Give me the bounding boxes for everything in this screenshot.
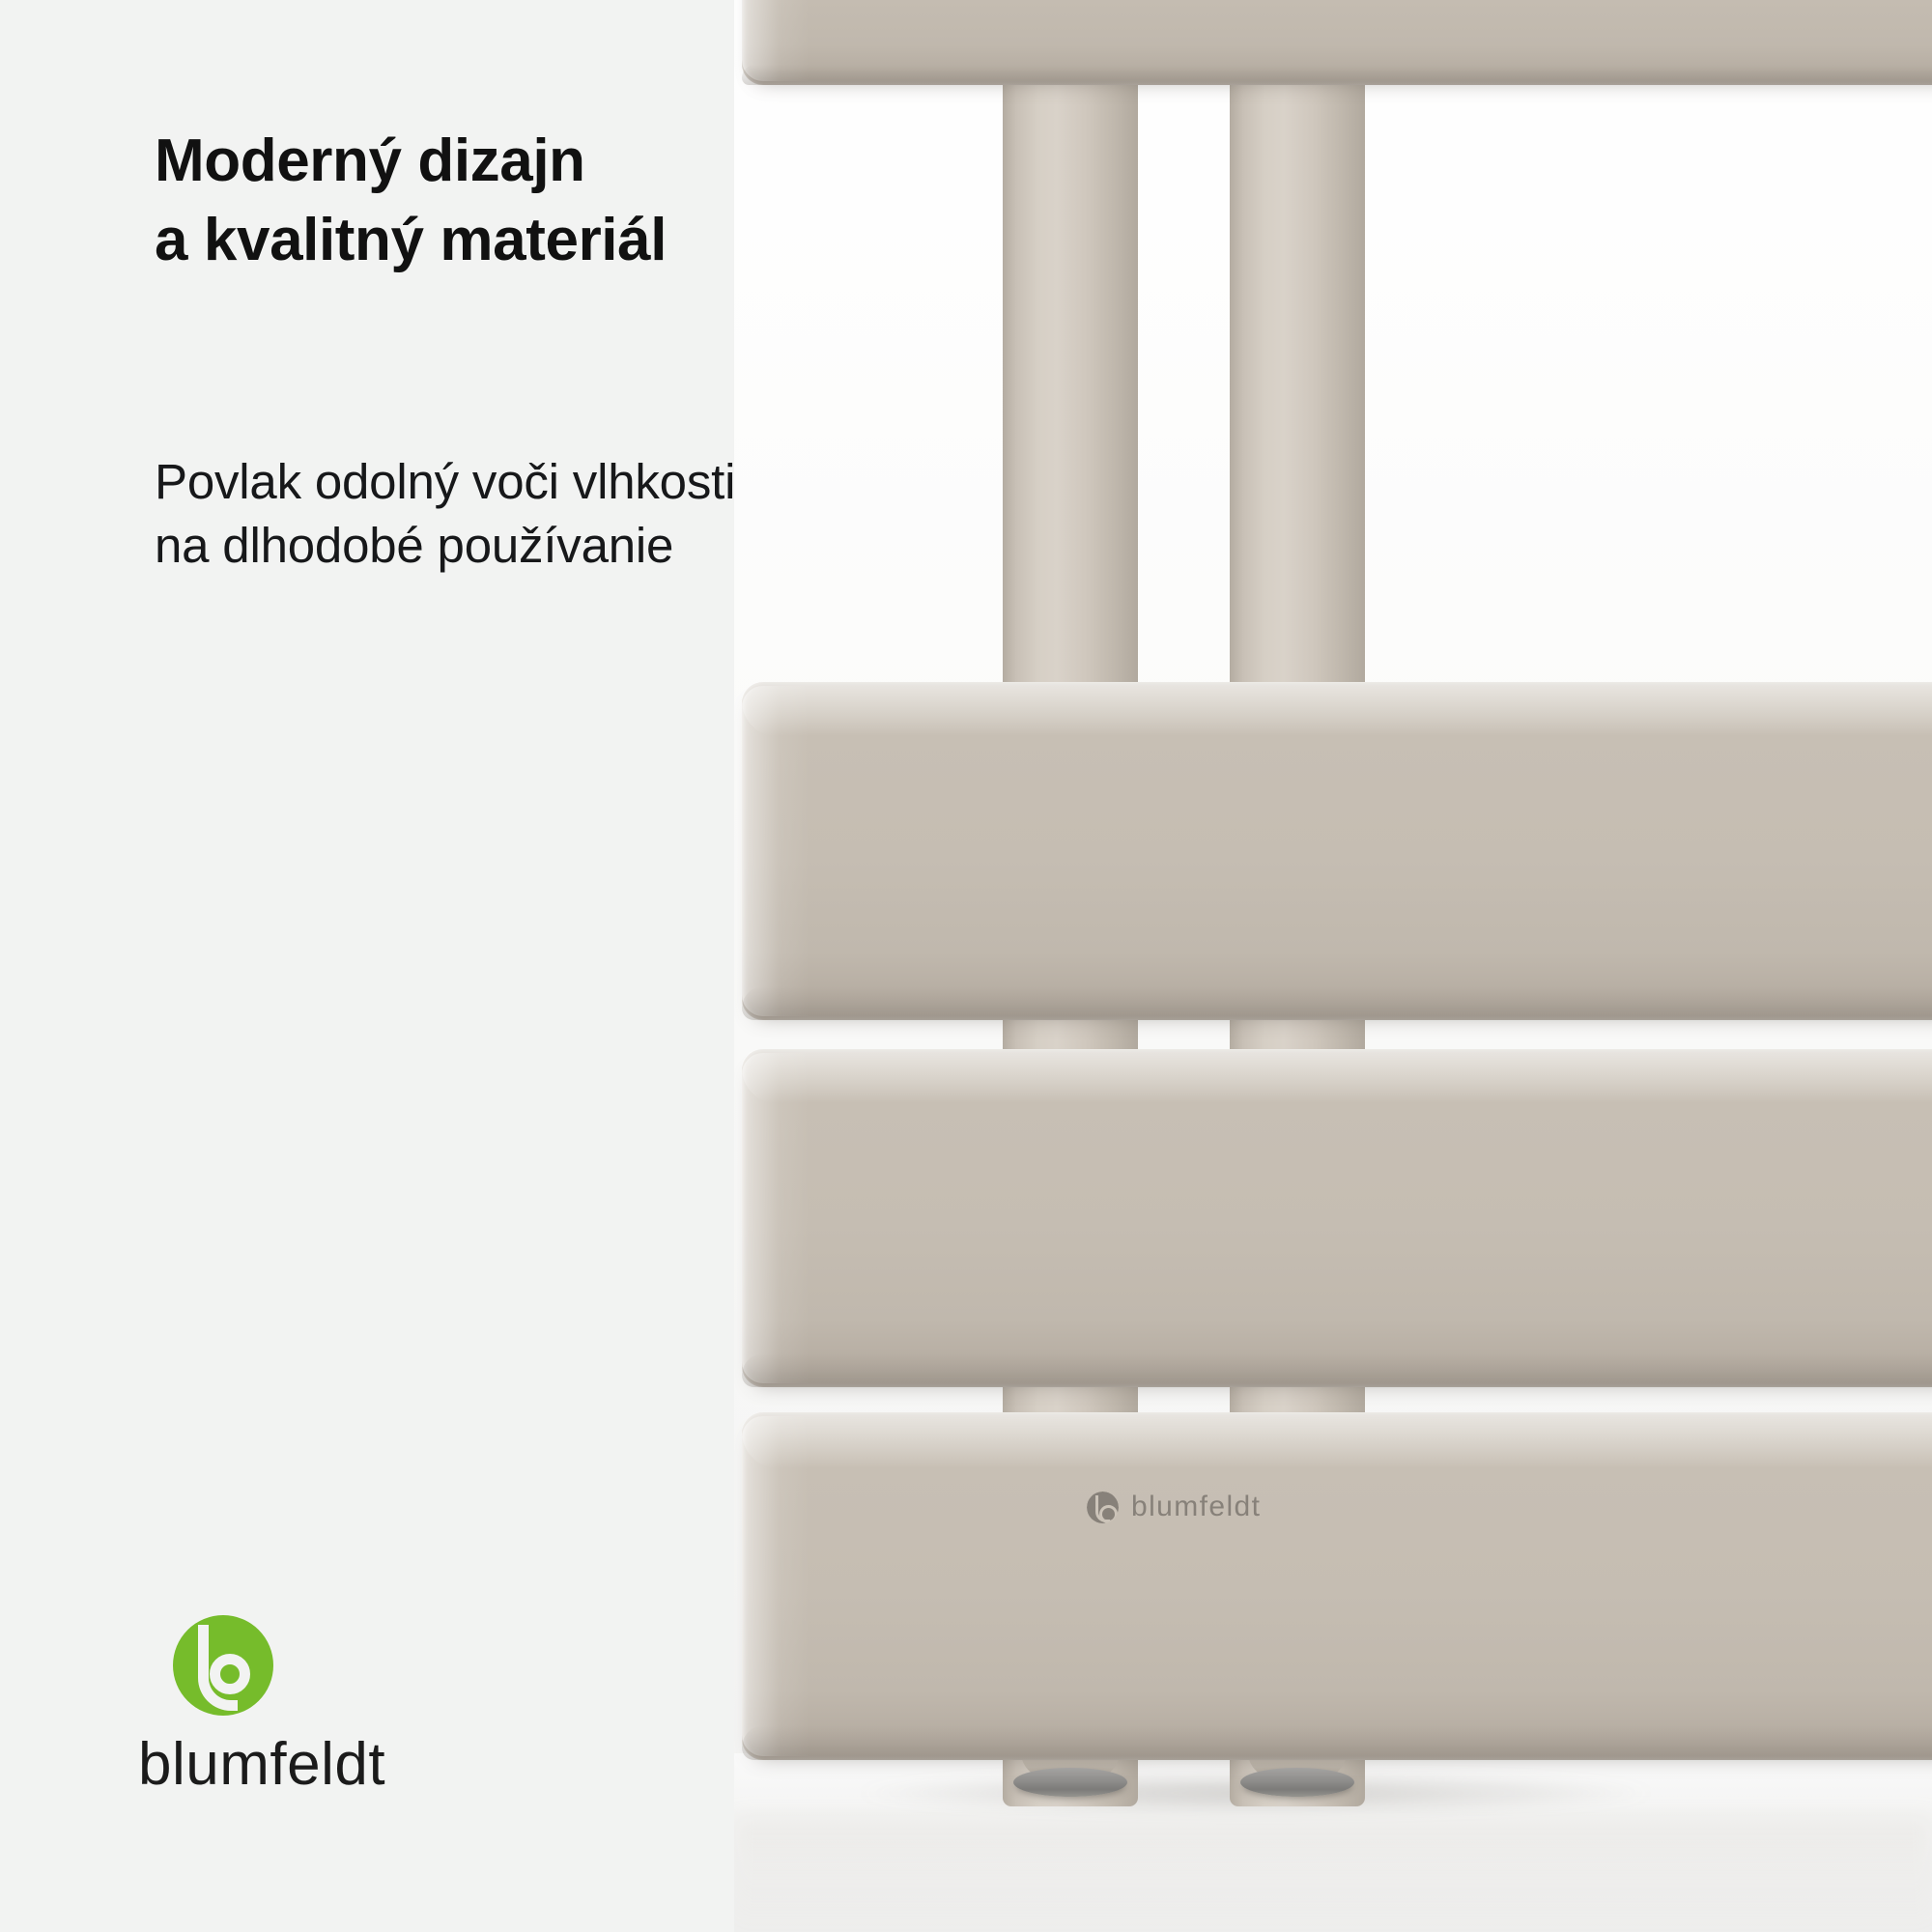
floor-reflection	[734, 1816, 1932, 1932]
blumfeldt-b-leaf-icon	[173, 1615, 273, 1716]
radiator-bar	[742, 682, 1932, 1020]
radiator-bar	[742, 1412, 1932, 1760]
radiator-bar	[742, 0, 1932, 85]
blumfeldt-b-leaf-icon	[1087, 1492, 1119, 1523]
bar-edge-highlight	[742, 1416, 810, 1756]
bar-edge-highlight	[742, 1053, 810, 1383]
product-embossed-brand-label: blumfeldt	[1131, 1491, 1261, 1523]
logo-b-bowl	[210, 1654, 250, 1694]
product-photo: blumfeldt	[734, 0, 1932, 1932]
radiator-bar	[742, 1049, 1932, 1387]
foot-rubber-pad	[1240, 1768, 1354, 1797]
bar-edge-highlight	[742, 686, 810, 1016]
product-embossed-brand: blumfeldt	[1087, 1491, 1261, 1523]
foot-rubber-pad	[1013, 1768, 1127, 1797]
banner-canvas: blumfeldt Moderný dizajn a kvalitný mate…	[0, 0, 1932, 1932]
bar-edge-highlight	[742, 0, 810, 81]
brand-wordmark: blumfeldt	[138, 1735, 554, 1795]
brand-logo: blumfeldt	[138, 1615, 554, 1795]
subheadline: Povlak odolný voči vlhkosti na dlhodobé …	[155, 450, 735, 579]
headline: Moderný dizajn a kvalitný materiál	[155, 122, 667, 280]
